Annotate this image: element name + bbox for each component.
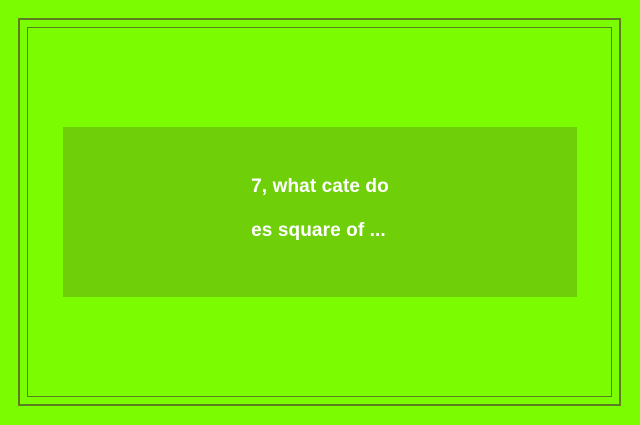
content-panel: 7, what cate do es square of ... (63, 127, 577, 297)
message-line-2: es square of ... (251, 209, 389, 253)
message-text-block: 7, what cate do es square of ... (251, 165, 389, 259)
screenshot-canvas: 7, what cate do es square of ... (0, 0, 640, 425)
message-line-1: 7, what cate do (251, 165, 389, 209)
